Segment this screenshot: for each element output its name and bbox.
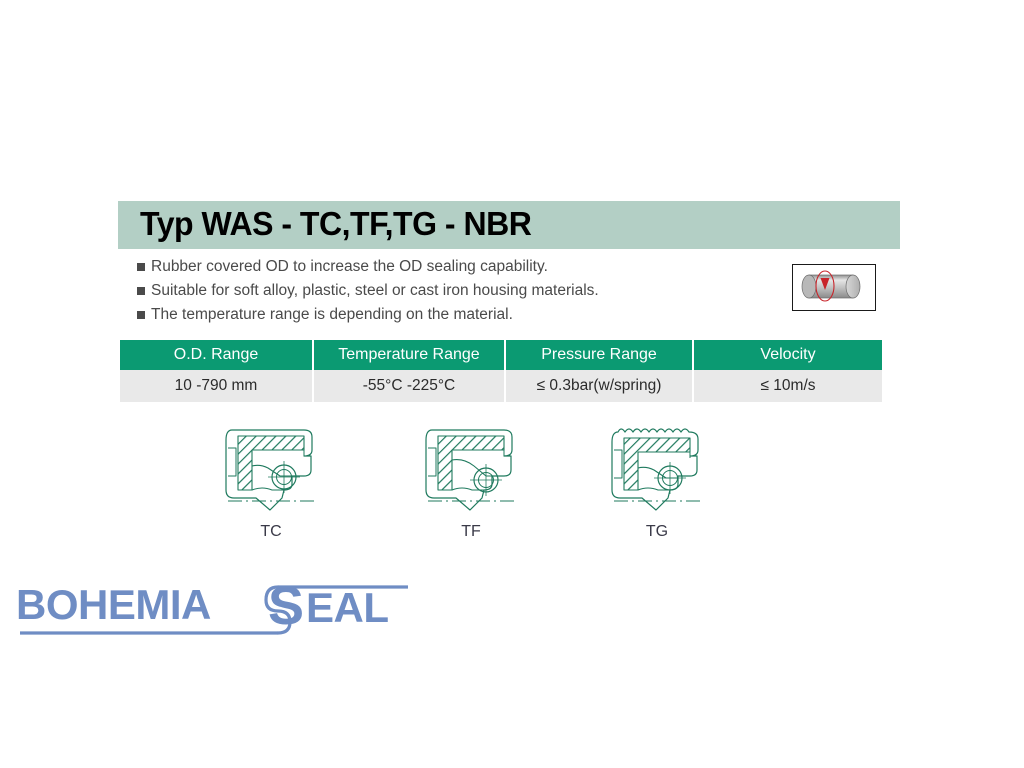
feature-text: Suitable for soft alloy, plastic, steel …	[151, 281, 599, 301]
list-item: The temperature range is depending on th…	[137, 305, 777, 326]
seal-label-tf: TF	[396, 523, 546, 541]
logo-initial-s: S	[268, 576, 304, 636]
cell-od-range: 10 -790 mm	[120, 370, 312, 402]
bohemia-seal-logo: BOHEMIA S EAL	[16, 576, 416, 640]
feature-text: Rubber covered OD to increase the OD sea…	[151, 257, 548, 277]
seal-diagram-gallery: TC	[196, 420, 756, 550]
table-header-row: O.D. Range Temperature Range Pressure Ra…	[120, 340, 882, 370]
title-band: Typ WAS - TC,TF,TG - NBR	[118, 201, 900, 249]
rotating-shaft-icon	[793, 265, 872, 307]
seal-figure-tf: TF	[396, 420, 546, 541]
column-header-temperature-range: Temperature Range	[314, 340, 504, 370]
column-header-od-range: O.D. Range	[120, 340, 312, 370]
table-row: 10 -790 mm -55°C -225°C ≤ 0.3bar(w/sprin…	[120, 370, 882, 402]
logo-word-bohemia: BOHEMIA	[16, 581, 211, 628]
logo-artwork: BOHEMIA S EAL	[16, 576, 416, 640]
bullet-square-icon	[137, 287, 145, 295]
seal-figure-tc: TC	[196, 420, 346, 541]
feature-text: The temperature range is depending on th…	[151, 305, 513, 325]
list-item: Rubber covered OD to increase the OD sea…	[137, 257, 777, 278]
page-title: Typ WAS - TC,TF,TG - NBR	[140, 205, 531, 243]
column-header-pressure-range: Pressure Range	[506, 340, 692, 370]
logo-word-eal: EAL	[306, 584, 389, 631]
seal-diagram-tc	[212, 420, 330, 520]
feature-list: Rubber covered OD to increase the OD sea…	[137, 257, 777, 329]
list-item: Suitable for soft alloy, plastic, steel …	[137, 281, 777, 302]
rotating-shaft-icon-box	[792, 264, 876, 311]
cell-velocity: ≤ 10m/s	[694, 370, 882, 402]
seal-figure-tg: TG	[582, 420, 732, 541]
seal-diagram-tg	[598, 420, 716, 520]
bullet-square-icon	[137, 263, 145, 271]
specification-table: O.D. Range Temperature Range Pressure Ra…	[118, 340, 884, 402]
seal-label-tc: TC	[196, 523, 346, 541]
bullet-square-icon	[137, 311, 145, 319]
column-header-velocity: Velocity	[694, 340, 882, 370]
cell-pressure-range: ≤ 0.3bar(w/spring)	[506, 370, 692, 402]
seal-label-tg: TG	[582, 523, 732, 541]
cell-temperature-range: -55°C -225°C	[314, 370, 504, 402]
seal-diagram-tf	[412, 420, 530, 520]
